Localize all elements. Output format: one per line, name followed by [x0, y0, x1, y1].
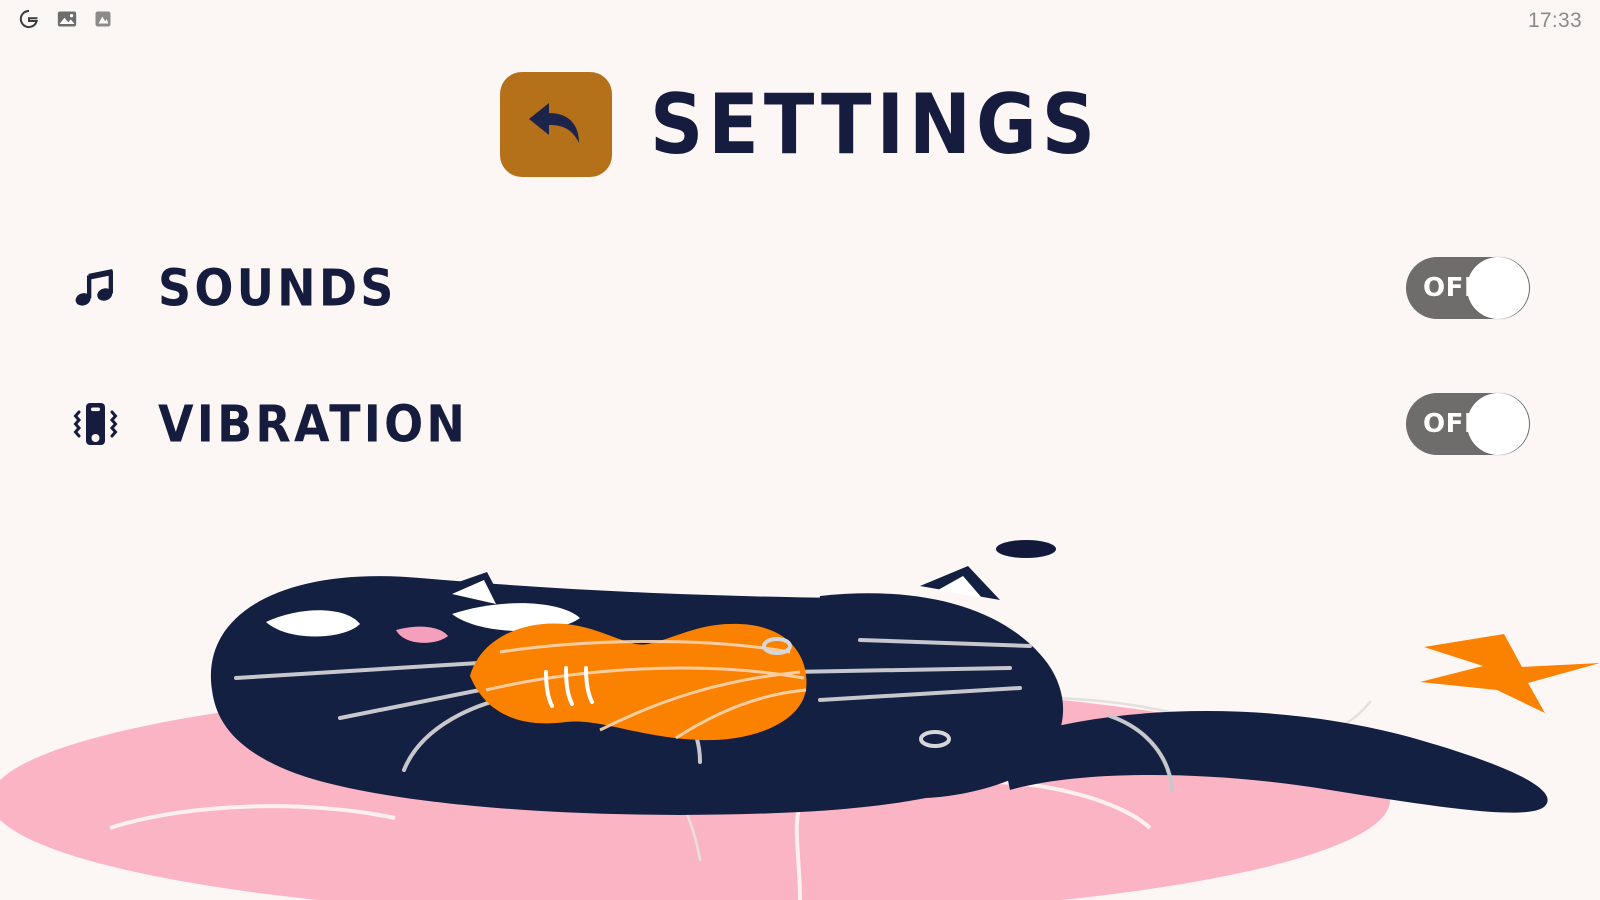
- music-note-icon: [62, 262, 128, 314]
- cat-belly-mark: [921, 732, 949, 746]
- back-arrow-icon: [525, 95, 587, 154]
- settings-list: SOUNDS OFF VIBRATION OFF: [0, 240, 1600, 512]
- status-clock: 17:33: [1528, 9, 1582, 33]
- speck: [996, 540, 1056, 558]
- setting-label-sounds: SOUNDS: [158, 258, 397, 317]
- sounds-toggle[interactable]: OFF: [1406, 257, 1530, 319]
- vibration-phone-icon: [62, 397, 128, 451]
- cat-eyes: [266, 603, 580, 636]
- cushion-seams: [110, 782, 1150, 900]
- setting-label-vibration: VIBRATION: [158, 394, 468, 453]
- image-icon: [57, 9, 77, 34]
- cat-back-mark: [764, 639, 790, 653]
- sounds-toggle-knob: [1467, 257, 1529, 319]
- star-sparkle: [1420, 634, 1600, 713]
- setting-row-sounds[interactable]: SOUNDS OFF: [0, 240, 1600, 336]
- cat-body: [211, 566, 1548, 815]
- page-header: SETTINGS: [0, 72, 1600, 177]
- back-button[interactable]: [500, 72, 612, 177]
- setting-row-vibration[interactable]: VIBRATION OFF: [0, 376, 1600, 472]
- cat-nose: [396, 627, 448, 643]
- cat-whiskers: [236, 640, 1172, 790]
- vibration-toggle-knob: [1467, 393, 1529, 455]
- yarn-ball: [470, 623, 806, 740]
- cushion: [0, 682, 1390, 900]
- app-screen: 17:33 SETTINGS SOUN: [0, 0, 1600, 900]
- page-title: SETTINGS: [650, 83, 1100, 166]
- cat-claws: [546, 668, 592, 706]
- cat-ear-inner: [452, 576, 982, 604]
- yarn-string: [600, 698, 1370, 861]
- image-badge-icon: [94, 10, 112, 33]
- status-bar-icons: [18, 8, 112, 35]
- yarn-wrap-lines: [486, 641, 806, 738]
- vibration-toggle[interactable]: OFF: [1406, 393, 1530, 455]
- google-g-icon: [18, 8, 40, 35]
- status-bar: 17:33: [0, 0, 1600, 42]
